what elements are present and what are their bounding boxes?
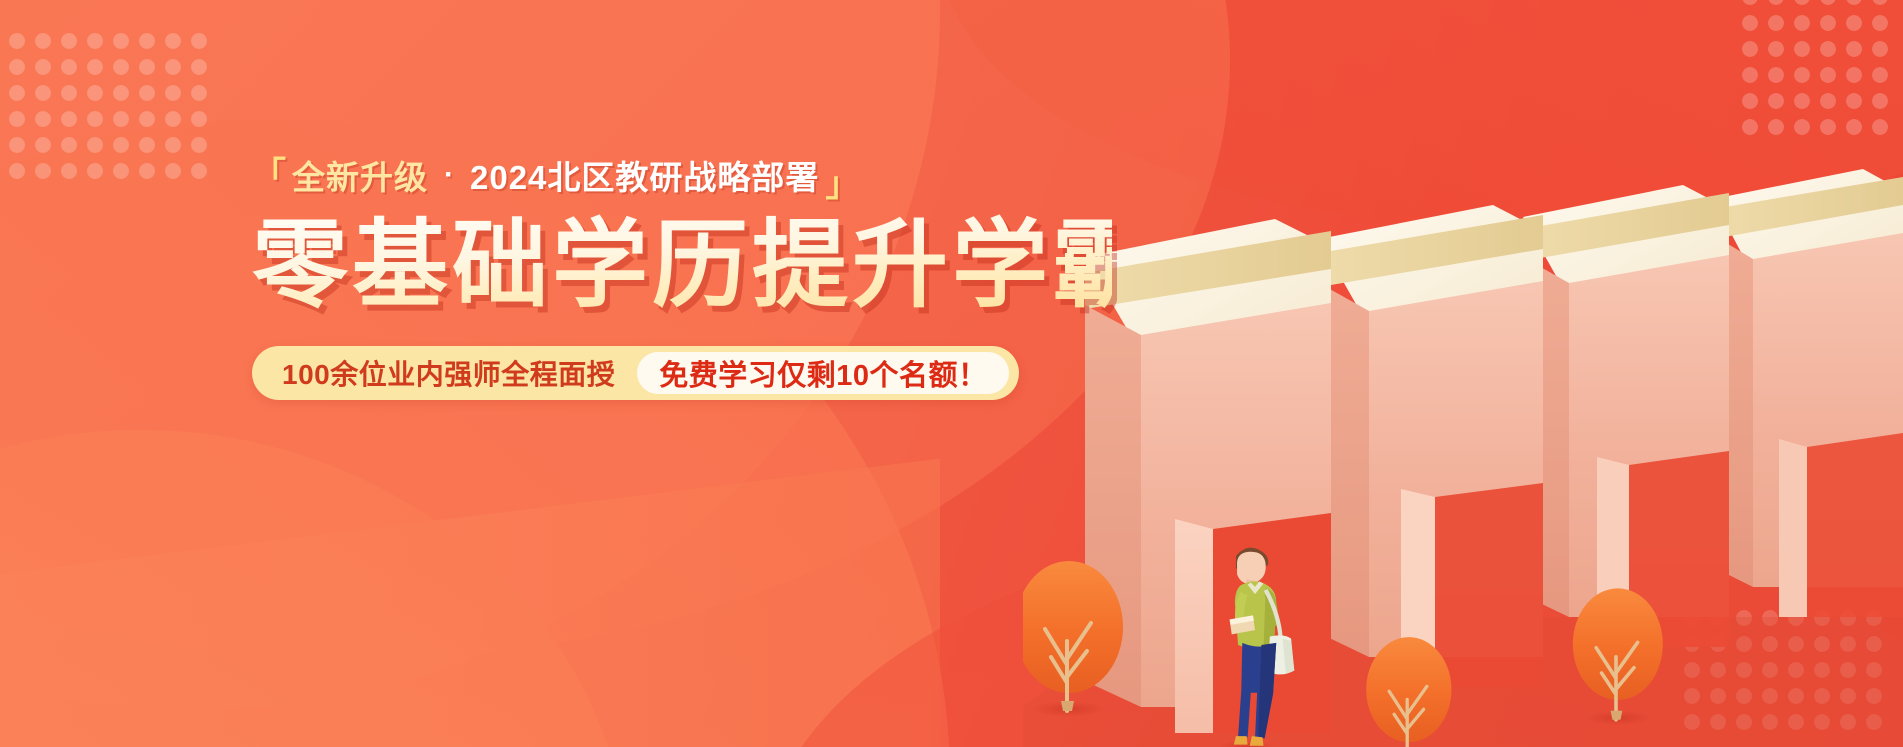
bracket-open-icon: 「 (252, 158, 286, 192)
page-title: 零基础学历提升学霸班 (252, 214, 1112, 318)
book-arch-4 (1713, 169, 1903, 617)
promo-pill[interactable]: 100余位业内强师全程面授 免费学习仅剩10个名额！ (252, 346, 1019, 400)
subtitle-separator-icon: · (434, 158, 464, 192)
book-arch-3 (1523, 185, 1729, 647)
book-arch-2 (1319, 205, 1543, 687)
promo-banner: 「 全新升级 · 2024北区教研战略部署 」 零基础学历提升学霸班 100余位… (0, 0, 1903, 747)
promo-pill-left-label: 100余位业内强师全程面授 (282, 353, 637, 393)
banner-subtitle: 「 全新升级 · 2024北区教研战略部署 」 (252, 152, 1112, 198)
promo-pill-right-badge: 免费学习仅剩10个名额！ (637, 352, 1009, 394)
bracket-close-icon: 」 (825, 168, 859, 202)
dot-grid-top-right-icon (1737, 0, 1893, 136)
dot-grid-top-left-icon (4, 28, 212, 188)
subtitle-main: 2024北区教研战略部署 (470, 151, 819, 199)
subtitle-highlight: 全新升级 (292, 151, 428, 199)
copy-block: 「 全新升级 · 2024北区教研战略部署 」 零基础学历提升学霸班 100余位… (252, 152, 1112, 400)
